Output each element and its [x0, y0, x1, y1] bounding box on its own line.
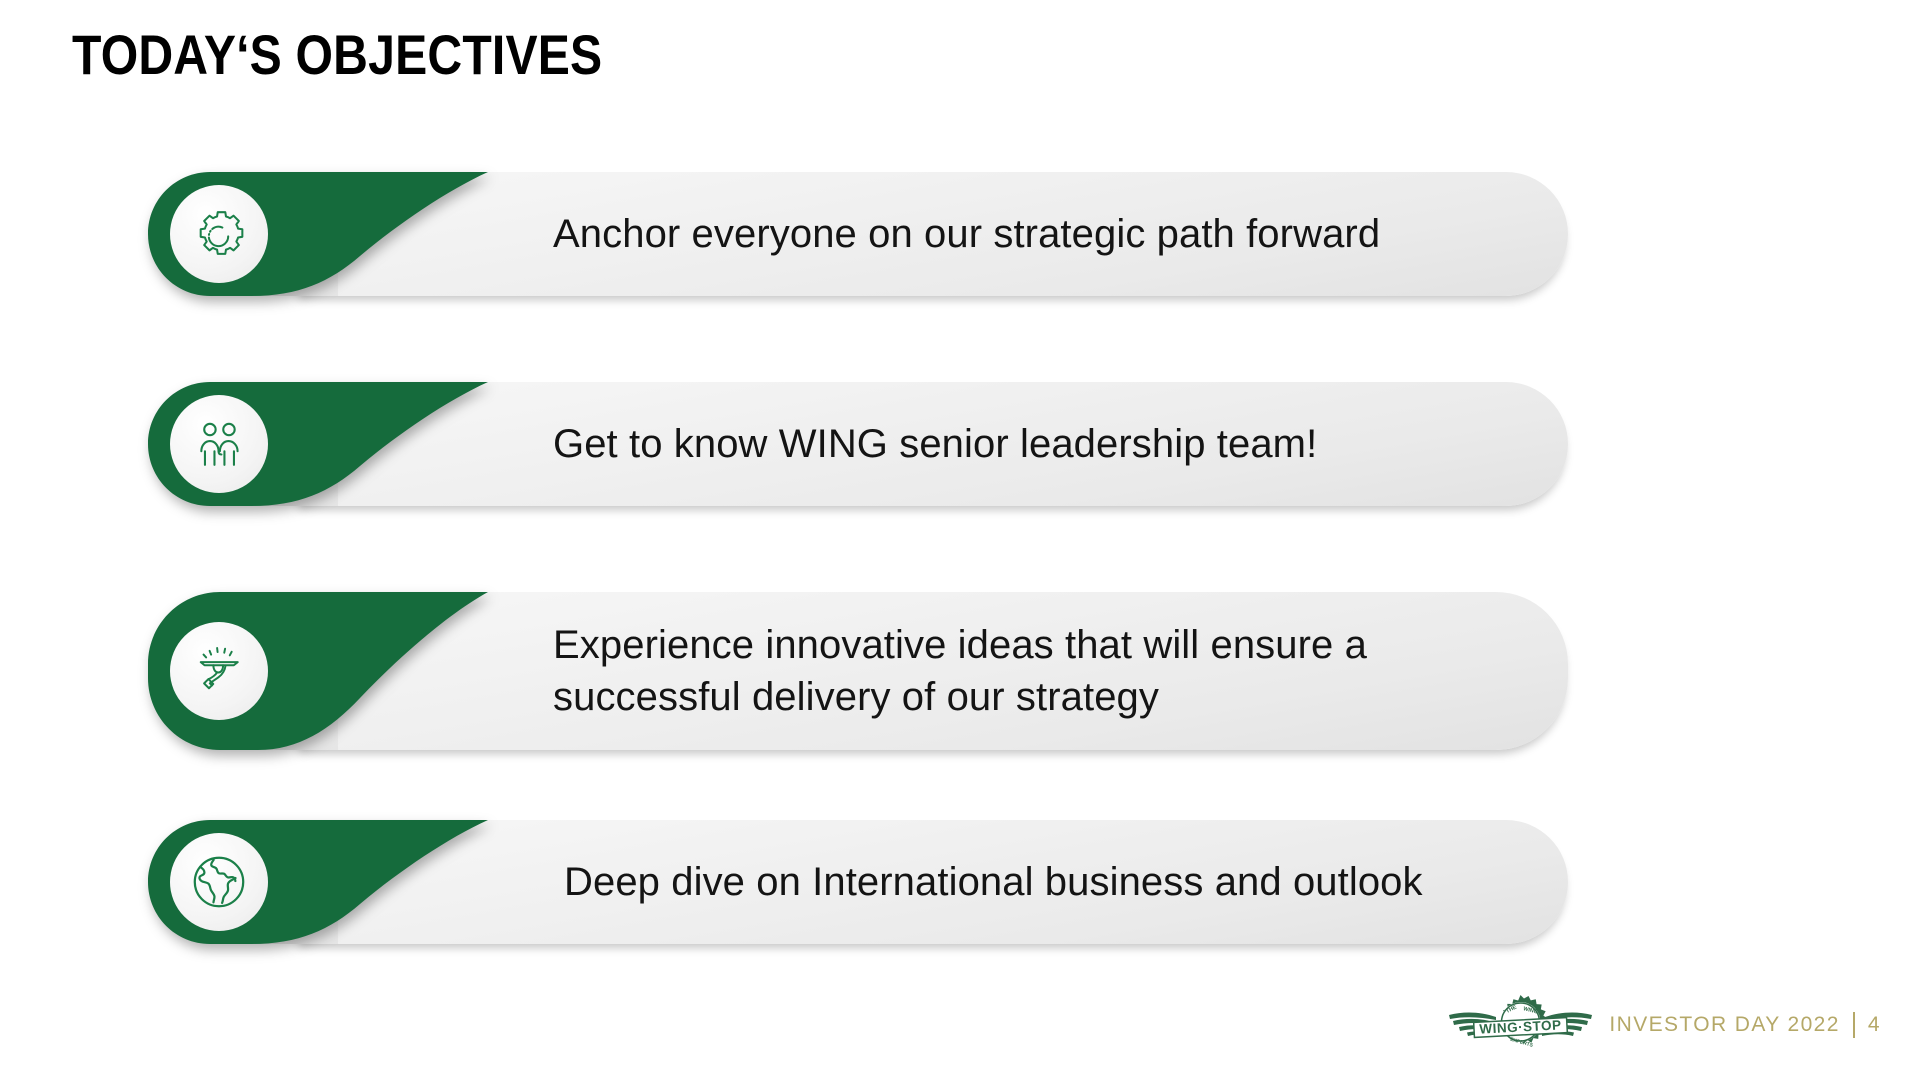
objective-icon-bubble	[170, 395, 268, 493]
two-people-icon	[190, 415, 248, 473]
objectives-list: Anchor everyone on our strategic path fo…	[0, 0, 1920, 1010]
serving-tray-icon	[189, 641, 249, 701]
event-label: INVESTOR DAY 2022	[1609, 1013, 1839, 1037]
gear-icon	[188, 203, 250, 265]
footer-divider	[1853, 1012, 1855, 1038]
footer-meta: INVESTOR DAY 2022 4	[1609, 1012, 1880, 1038]
objective-card[interactable]: Experience innovative ideas that will en…	[148, 592, 1568, 750]
objective-card[interactable]: Get to know WING senior leadership team!	[148, 382, 1568, 506]
slide-footer: THE WING WING·STOP EXPERTS INVESTOR DAY …	[1448, 991, 1880, 1058]
objective-text: Experience innovative ideas that will en…	[553, 592, 1468, 750]
objective-text: Anchor everyone on our strategic path fo…	[553, 172, 1468, 296]
objective-card[interactable]: Anchor everyone on our strategic path fo…	[148, 172, 1568, 296]
objective-icon-bubble	[170, 185, 268, 283]
globe-icon	[188, 851, 250, 913]
objective-card[interactable]: Deep dive on International business and …	[148, 820, 1568, 944]
page-number: 4	[1868, 1013, 1880, 1037]
objective-icon-bubble	[170, 833, 268, 931]
slide: TODAY‘S OBJECTIVES Anchor everyone on ou…	[0, 0, 1920, 1080]
objective-icon-bubble	[170, 622, 268, 720]
objective-text: Get to know WING senior leadership team!	[553, 382, 1468, 506]
objective-text: Deep dive on International business and …	[564, 820, 1468, 944]
wingstop-logo: THE WING WING·STOP EXPERTS	[1448, 991, 1593, 1058]
